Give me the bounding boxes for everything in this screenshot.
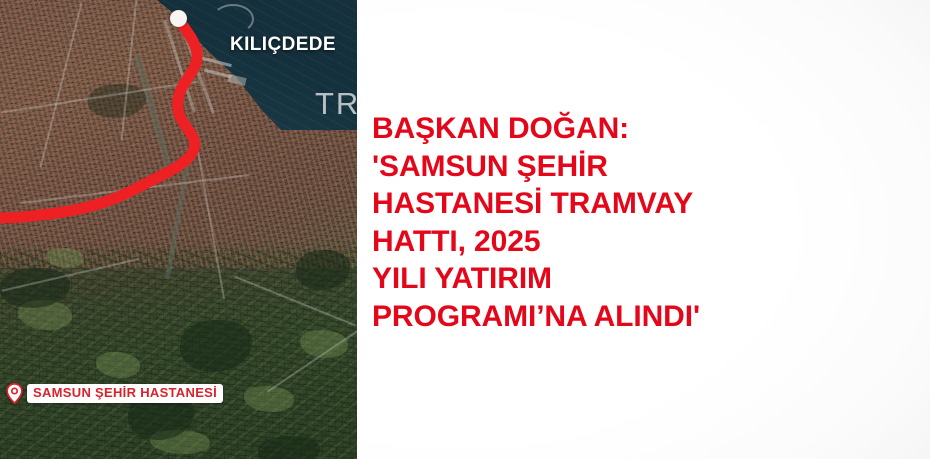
screenshot-root: KILIÇDEDE TR SAMSUN ŞEHİR HASTANESİ BAŞK…: [0, 0, 930, 459]
headline-block: BAŞKAN DOĞAN: 'SAMSUN ŞEHİR HASTANESİ TR…: [372, 110, 917, 335]
headline-line-6: PROGRAMI’NA ALINDI': [372, 298, 917, 336]
map-label-hospital-text: SAMSUN ŞEHİR HASTANESİ: [27, 384, 223, 403]
headline-panel: BAŞKAN DOĞAN: 'SAMSUN ŞEHİR HASTANESİ TR…: [357, 0, 930, 459]
headline-line-1: BAŞKAN DOĞAN:: [372, 110, 917, 148]
satellite-map-panel[interactable]: KILIÇDEDE TR SAMSUN ŞEHİR HASTANESİ: [0, 0, 357, 459]
route-terminus-dot[interactable]: [170, 10, 187, 27]
map-label-kilicdede: KILIÇDEDE: [230, 34, 336, 56]
headline-line-2: 'SAMSUN ŞEHİR: [372, 148, 917, 186]
map-label-tr: TR: [315, 86, 357, 122]
map-pin-icon: [6, 383, 23, 404]
headline-line-4: HATTI, 2025: [372, 223, 917, 261]
headline-line-3: HASTANESİ TRAMVAY: [372, 185, 917, 223]
map-marker-hospital[interactable]: SAMSUN ŞEHİR HASTANESİ: [6, 383, 223, 404]
headline-line-5: YILI YATIRIM: [372, 260, 917, 298]
